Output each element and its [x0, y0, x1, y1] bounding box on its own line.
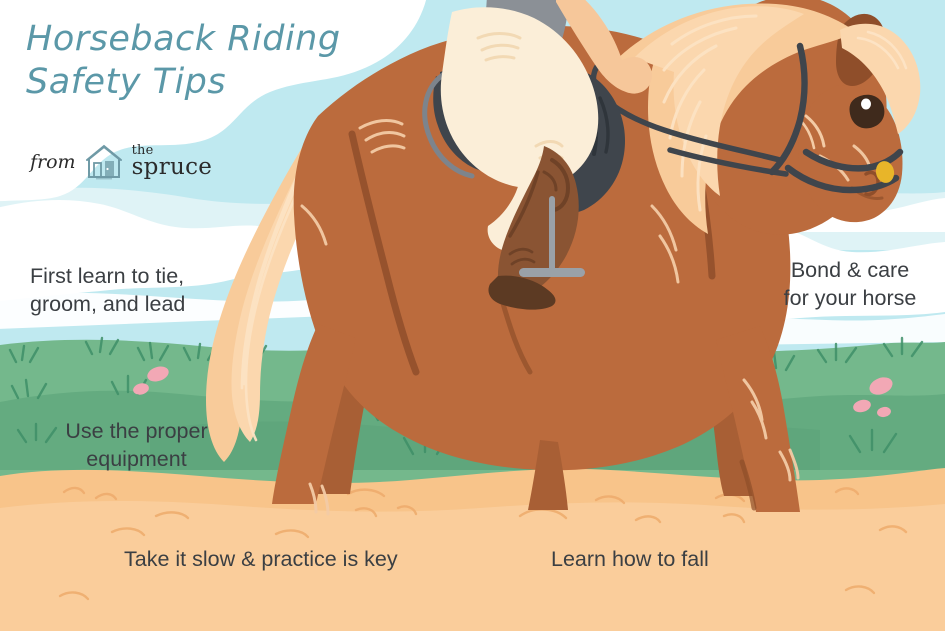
tip-label-fall: Learn how to fall [551, 545, 709, 573]
brand-logo: from the spruce [30, 143, 212, 181]
title-line-1: Horseback Riding [26, 18, 356, 61]
logo-brand-label: spruce [132, 157, 213, 178]
house-icon [85, 143, 123, 181]
tip-label-practice: Take it slow & practice is key [124, 545, 398, 573]
tip-label-equipment: Use the proper equipment [34, 417, 239, 474]
title-line-2: Safety Tips [26, 61, 356, 104]
tip-label-bond: Bond & care for your horse [760, 256, 940, 313]
logo-from-label: from [30, 151, 76, 173]
page-title: Horseback Riding Safety Tips [26, 18, 356, 103]
logo-wordmark: the spruce [132, 145, 213, 178]
infographic-canvas: Horseback Riding Safety Tips from the sp… [0, 0, 945, 631]
tip-label-tie: First learn to tie, groom, and lead [30, 262, 250, 319]
